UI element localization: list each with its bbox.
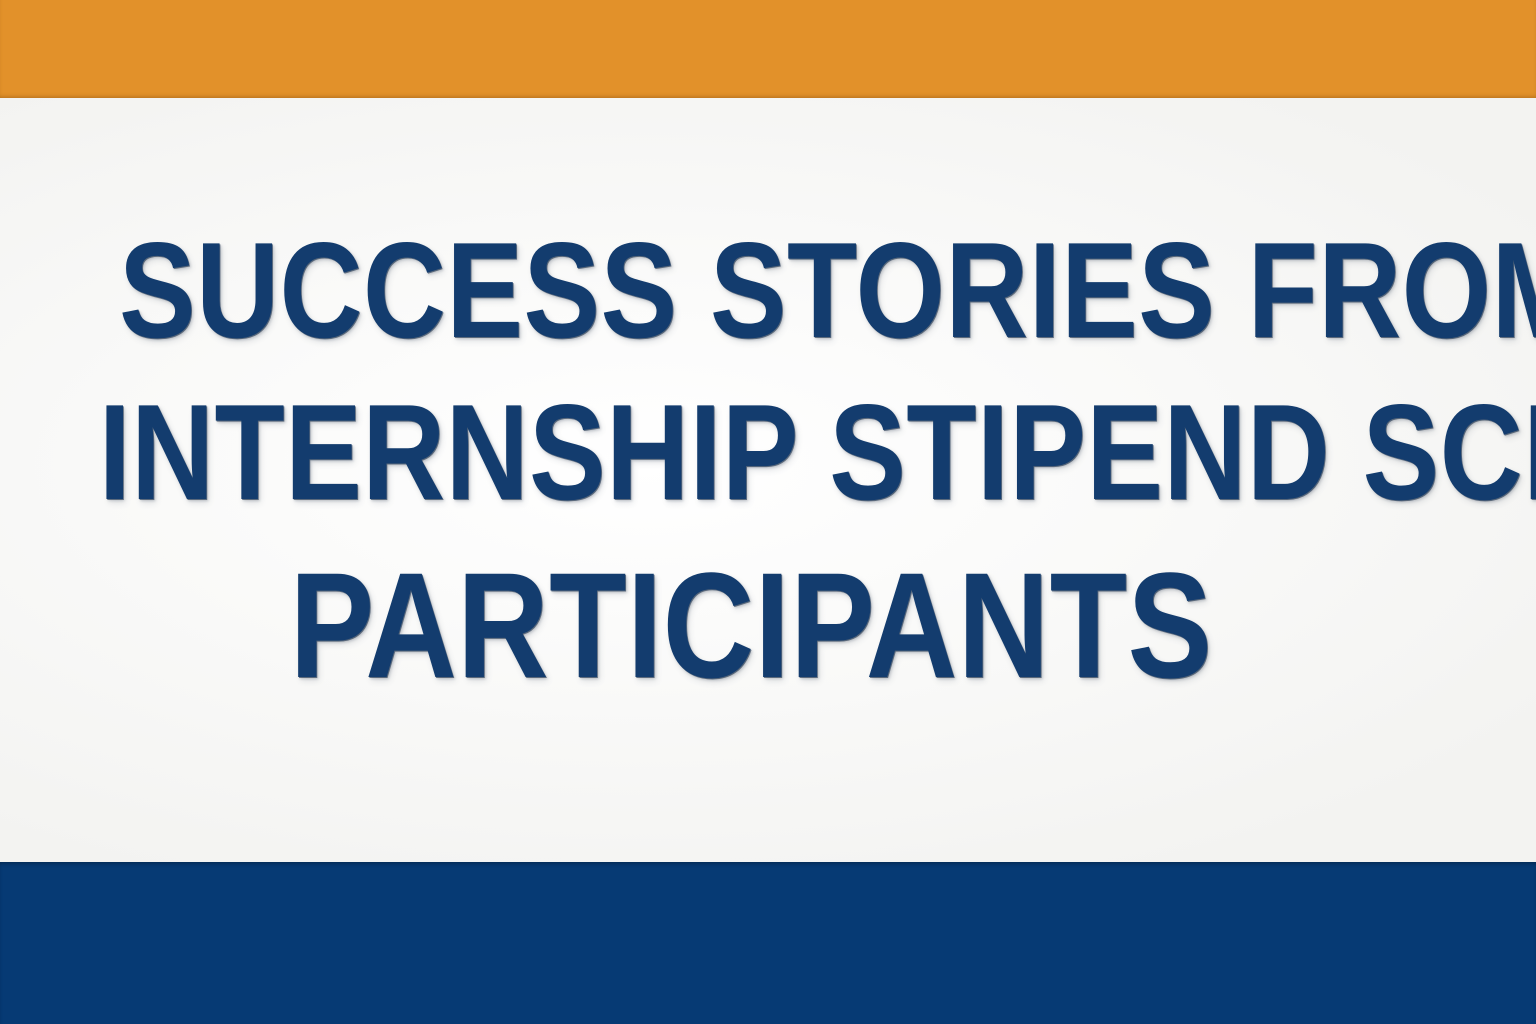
- top-accent-band: [0, 0, 1536, 98]
- bottom-accent-band: [0, 862, 1536, 1024]
- slide-title: SUCCESS STORIES FROM INTERNSHIP STIPEND …: [0, 98, 1536, 862]
- title-line-1: SUCCESS STORIES FROM: [119, 222, 1417, 358]
- title-line-3: PARTICIPANTS: [102, 550, 1400, 700]
- title-line-2: INTERNSHIP STIPEND SCHEME: [99, 384, 1397, 520]
- title-slide: SUCCESS STORIES FROM INTERNSHIP STIPEND …: [0, 0, 1536, 1024]
